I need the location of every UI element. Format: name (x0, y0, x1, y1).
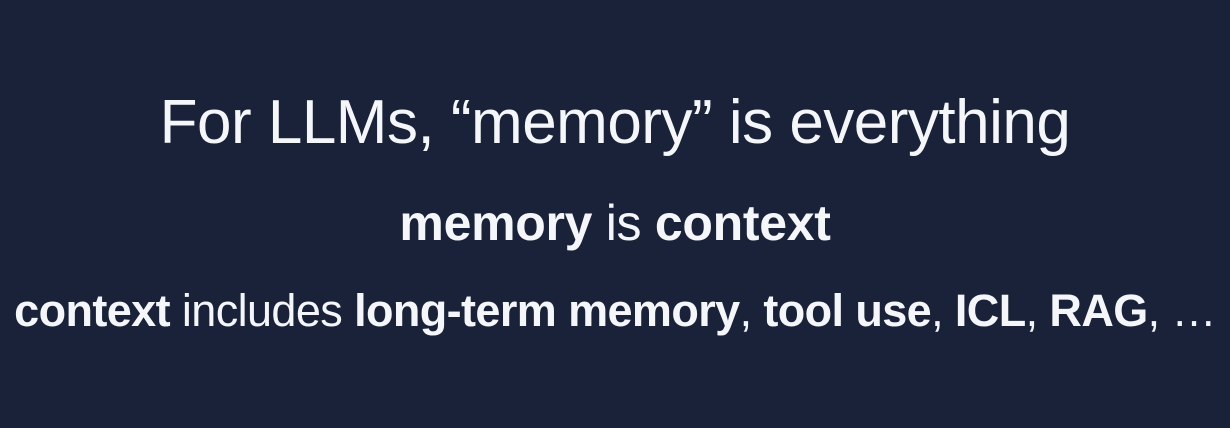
subline-emphasis-memory: memory (399, 195, 592, 251)
subline-connector: is (592, 195, 655, 251)
detail-emphasis-long-term-memory: long-term memory (354, 285, 739, 336)
detail-emphasis-context: context (14, 285, 170, 336)
detail-ellipsis: … (1171, 285, 1215, 336)
headline-text: For LLMs, “memory” is everything (0, 92, 1230, 154)
detail-emphasis-icl: ICL (955, 285, 1026, 336)
slide-canvas: For LLMs, “memory” is everything memory … (0, 0, 1230, 428)
detail-separator-4: , (1148, 285, 1172, 336)
detail-separator-1: , (740, 285, 764, 336)
detail-emphasis-rag: RAG (1049, 285, 1147, 336)
detail-text: context includes long-term memory, tool … (0, 288, 1230, 333)
subline-text: memory is context (0, 198, 1230, 248)
detail-connector-includes: includes (170, 285, 354, 336)
detail-separator-2: , (931, 285, 955, 336)
subline-emphasis-context: context (655, 195, 831, 251)
detail-emphasis-tool-use: tool use (763, 285, 931, 336)
detail-separator-3: , (1026, 285, 1050, 336)
